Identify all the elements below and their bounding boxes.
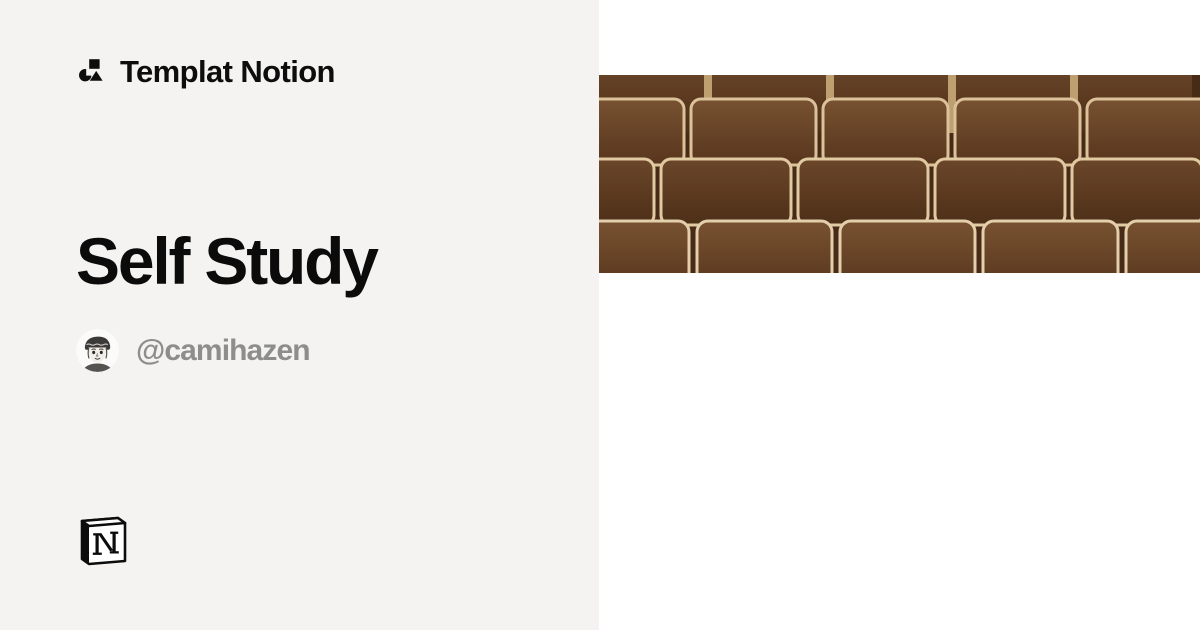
notion-page-preview[interactable]: For Self Study (599, 0, 1200, 630)
brand-lockup[interactable]: Templat Notion (76, 56, 335, 87)
cover-image (599, 75, 1200, 273)
avatar (76, 329, 119, 372)
shapes-logo-icon (76, 57, 106, 87)
left-info-panel: Templat Notion Self Study (0, 0, 599, 630)
author-handle: @camihazen (136, 336, 310, 366)
notion-cube-logo (76, 509, 134, 567)
author-row[interactable]: @camihazen (76, 329, 310, 372)
brand-name: Templat Notion (120, 56, 335, 87)
page-title: Self Study (76, 226, 377, 297)
preview-card: Templat Notion Self Study (0, 0, 1200, 630)
